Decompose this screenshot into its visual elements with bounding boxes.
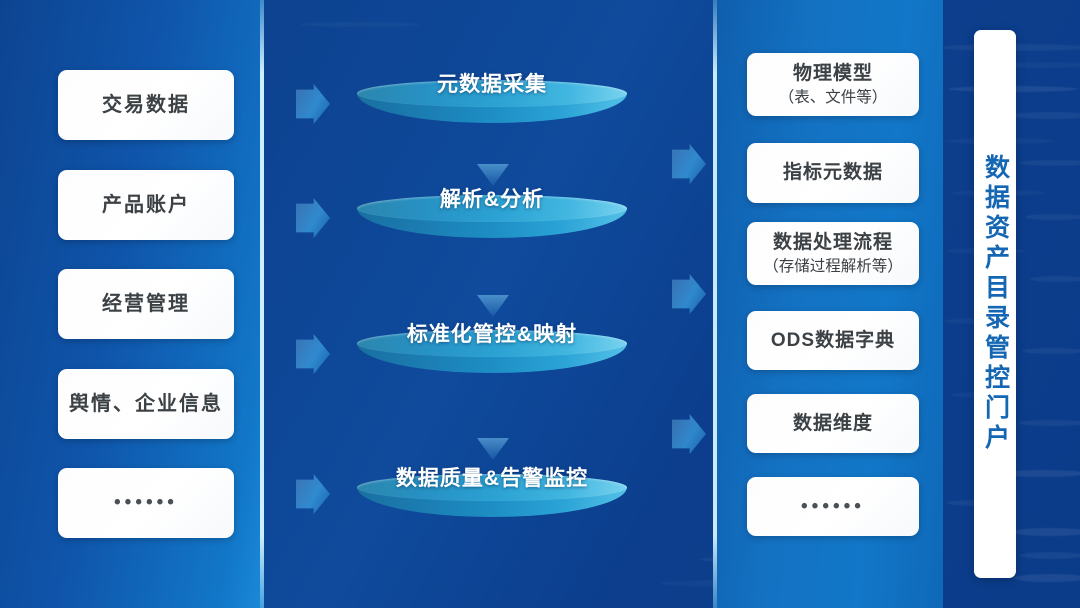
stage-cylinder-standardization-mapping[interactable]: 标准化管控&映射 <box>357 330 627 382</box>
bg-streak <box>1020 160 1080 166</box>
stage-label: 元数据采集 <box>357 68 627 98</box>
asset-card-indicator-metadata[interactable]: 指标元数据 <box>747 143 919 203</box>
ellipsis-icon: •••••• <box>114 491 178 515</box>
flow-chevron-down-icon <box>477 438 509 460</box>
asset-card-more[interactable]: •••••• <box>747 477 919 536</box>
source-card-public-opinion-enterprise-info[interactable]: 舆情、企业信息 <box>58 369 234 439</box>
source-card-business-management[interactable]: 经营管理 <box>58 269 234 339</box>
bg-streak <box>1030 276 1080 282</box>
flow-arrow-right-icon <box>296 474 330 514</box>
card-subtitle: （存储过程解析等） <box>763 257 903 276</box>
card-title: 舆情、企业信息 <box>69 392 223 417</box>
source-card-product-account[interactable]: 产品账户 <box>58 170 234 240</box>
portal-vertical-banner[interactable]: 数据资产目录管控门户 <box>974 30 1016 578</box>
asset-card-ods-data-dictionary[interactable]: ODS数据字典 <box>747 311 919 370</box>
ellipsis-icon: •••••• <box>801 495 865 519</box>
card-title: 经营管理 <box>102 292 190 317</box>
bg-streak <box>1012 528 1080 536</box>
source-card-more[interactable]: •••••• <box>58 468 234 538</box>
source-card-transaction-data[interactable]: 交易数据 <box>58 70 234 140</box>
card-title: ODS数据字典 <box>771 329 895 353</box>
bg-streak <box>1022 348 1080 354</box>
card-title: 指标元数据 <box>783 161 883 185</box>
flow-arrow-right-icon <box>672 144 706 184</box>
bg-streak <box>1020 552 1080 559</box>
card-title: 物理模型 <box>793 62 873 86</box>
flow-arrow-right-icon <box>296 198 330 238</box>
card-title: 数据处理流程 <box>773 231 893 255</box>
card-title: 产品账户 <box>102 193 190 218</box>
asset-card-data-dimension[interactable]: 数据维度 <box>747 394 919 453</box>
bg-streak <box>1018 420 1080 426</box>
flow-arrow-right-icon <box>672 274 706 314</box>
flow-chevron-down-icon <box>477 295 509 317</box>
flow-arrow-right-icon <box>296 84 330 124</box>
stage-label: 标准化管控&映射 <box>357 318 627 348</box>
stage-cylinder-metadata-collection[interactable]: 元数据采集 <box>357 80 627 132</box>
flow-arrow-right-icon <box>296 334 330 374</box>
card-title: 交易数据 <box>102 93 190 118</box>
stage-cylinder-parse-analyze[interactable]: 解析&分析 <box>357 195 627 247</box>
asset-card-physical-model[interactable]: 物理模型 （表、文件等） <box>747 53 919 116</box>
flow-arrow-right-icon <box>672 414 706 454</box>
stage-label: 数据质量&告警监控 <box>357 462 627 492</box>
stage-label: 解析&分析 <box>357 183 627 213</box>
portal-title: 数据资产目录管控门户 <box>983 154 1008 454</box>
diagram-canvas: 交易数据 产品账户 经营管理 舆情、企业信息 •••••• 元数据采集 解析&分… <box>0 0 1080 608</box>
bg-streak <box>1010 112 1080 119</box>
bg-streak <box>1014 574 1080 582</box>
asset-card-data-processing-flow[interactable]: 数据处理流程 （存储过程解析等） <box>747 222 919 285</box>
card-subtitle: （表、文件等） <box>779 88 888 107</box>
stage-cylinder-data-quality-alert-monitoring[interactable]: 数据质量&告警监控 <box>357 474 627 526</box>
bg-streak <box>300 22 420 27</box>
bg-streak <box>1025 214 1080 220</box>
card-title: 数据维度 <box>793 412 873 436</box>
